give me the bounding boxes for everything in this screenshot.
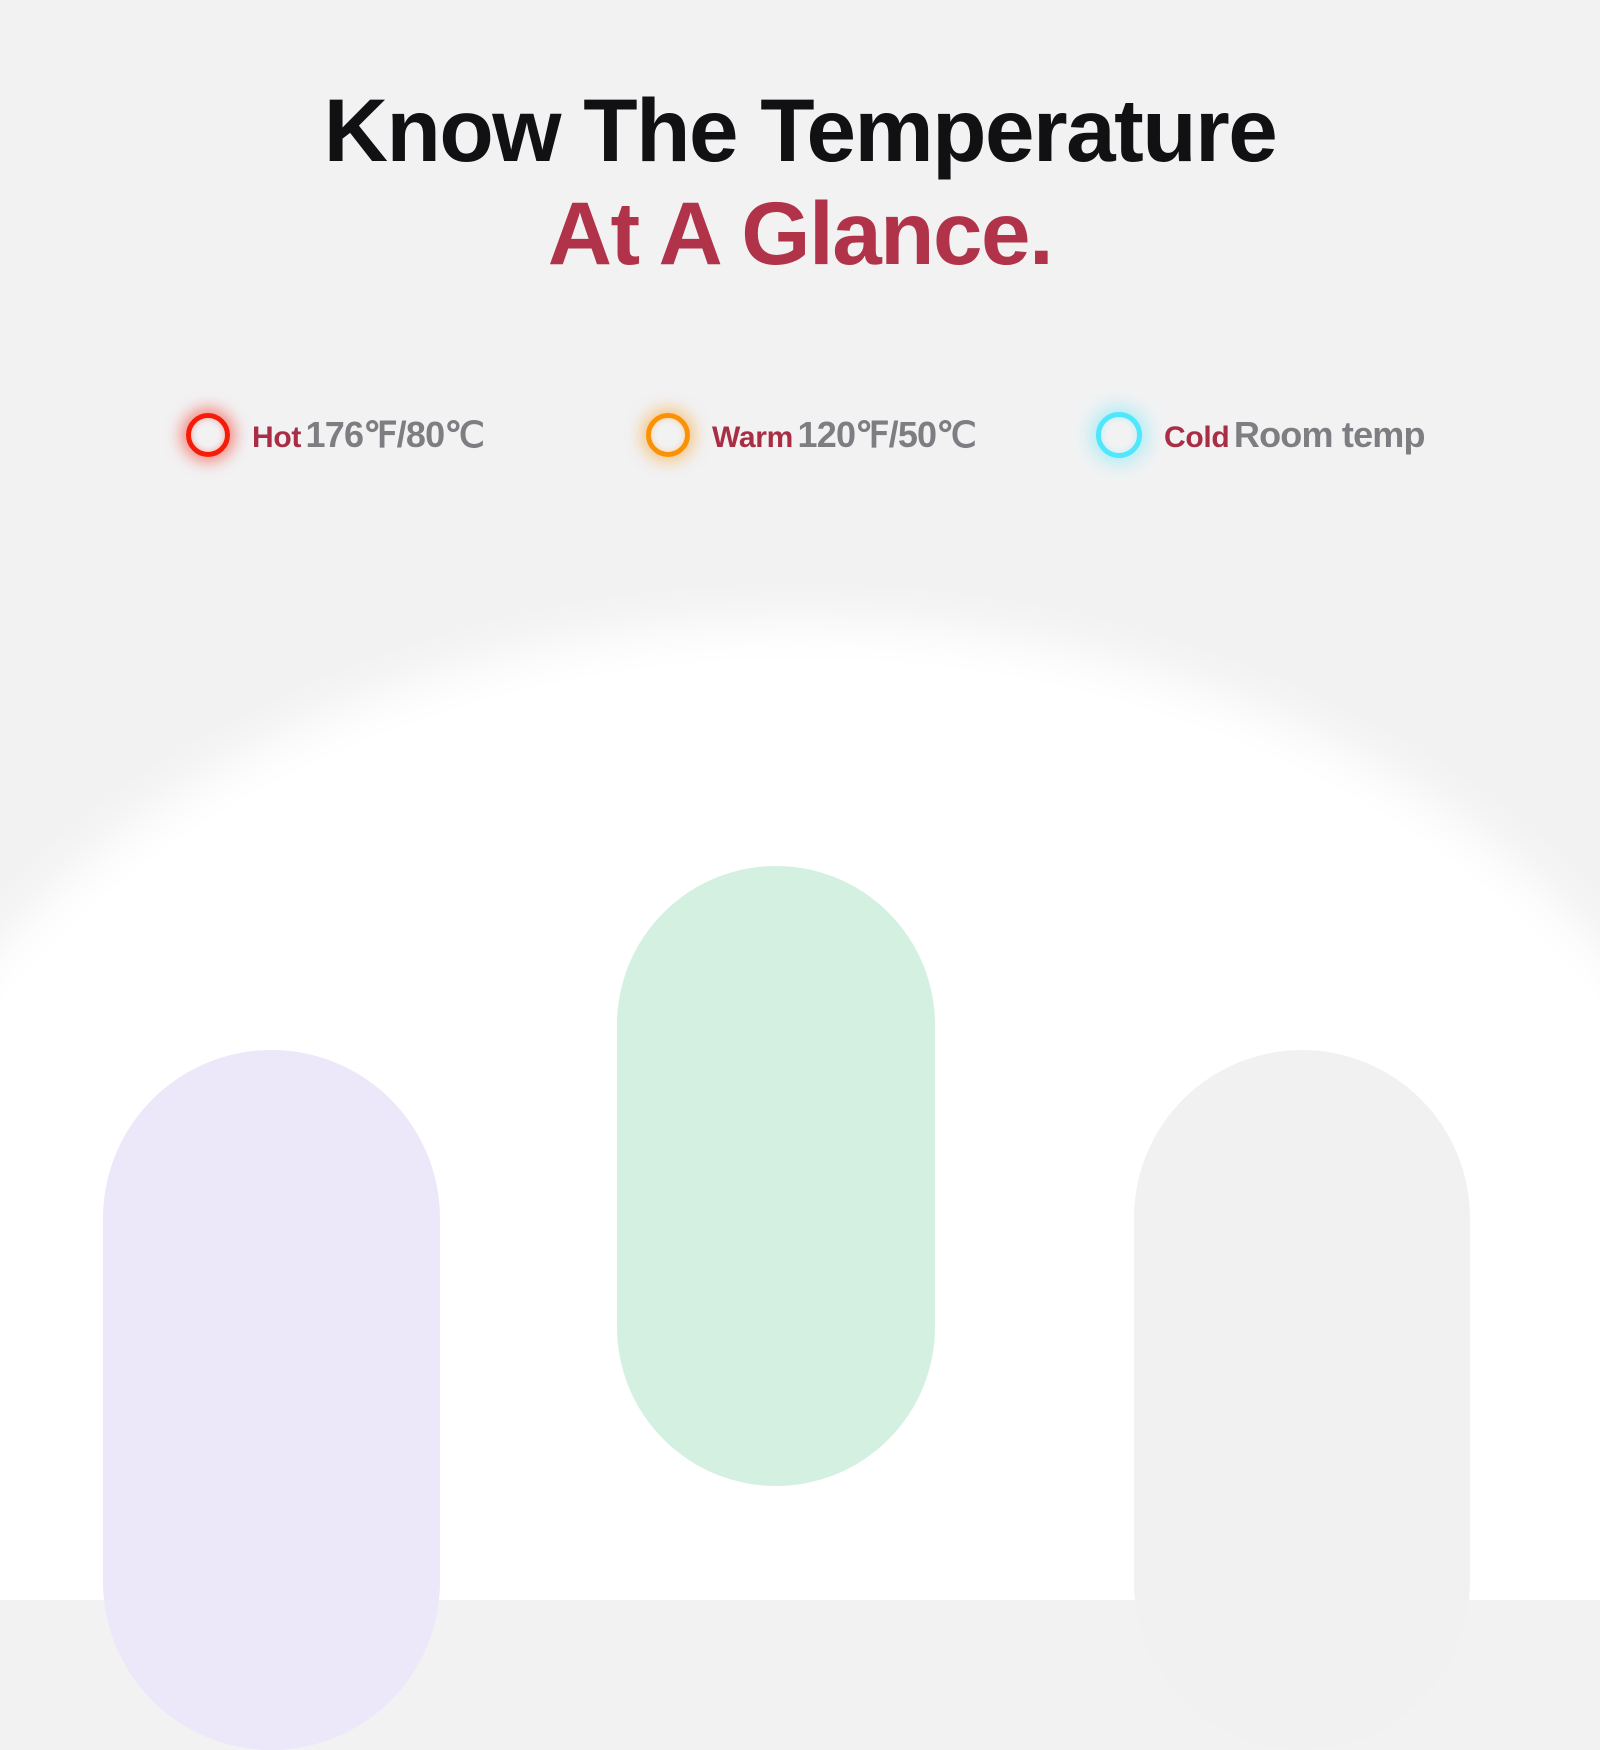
pill-purple [103,1050,440,1750]
glow-ring-icon-warm [646,413,690,457]
pill-gray [1134,1050,1470,1750]
headline-line-2: At A Glance. [0,189,1600,278]
pill-green [617,866,935,1486]
legend-title-warm: Warm [712,421,793,454]
temperature-legend: Hot 176℉/80℃ Warm 120℉/50℃ Cold Room tem… [186,412,1466,458]
page-title: Know The Temperature At A Glance. [0,86,1600,278]
glow-ring-icon-cold [1096,412,1142,458]
legend-value-warm: 120℉/50℃ [798,414,976,455]
legend-text-warm: Warm 120℉/50℃ [712,416,976,455]
legend-item-cold[interactable]: Cold Room temp [1096,412,1466,458]
headline-line-1: Know The Temperature [0,86,1600,175]
legend-title-hot: Hot [252,421,301,454]
legend-text-hot: Hot 176℉/80℃ [252,416,484,455]
legend-value-hot: 176℉/80℃ [306,414,484,455]
legend-value-cold: Room temp [1234,414,1425,455]
legend-item-hot[interactable]: Hot 176℉/80℃ [186,412,646,458]
legend-text-cold: Cold Room temp [1164,416,1425,455]
legend-item-warm[interactable]: Warm 120℉/50℃ [646,412,1096,458]
glow-ring-icon-hot [186,413,230,457]
legend-title-cold: Cold [1164,421,1229,454]
